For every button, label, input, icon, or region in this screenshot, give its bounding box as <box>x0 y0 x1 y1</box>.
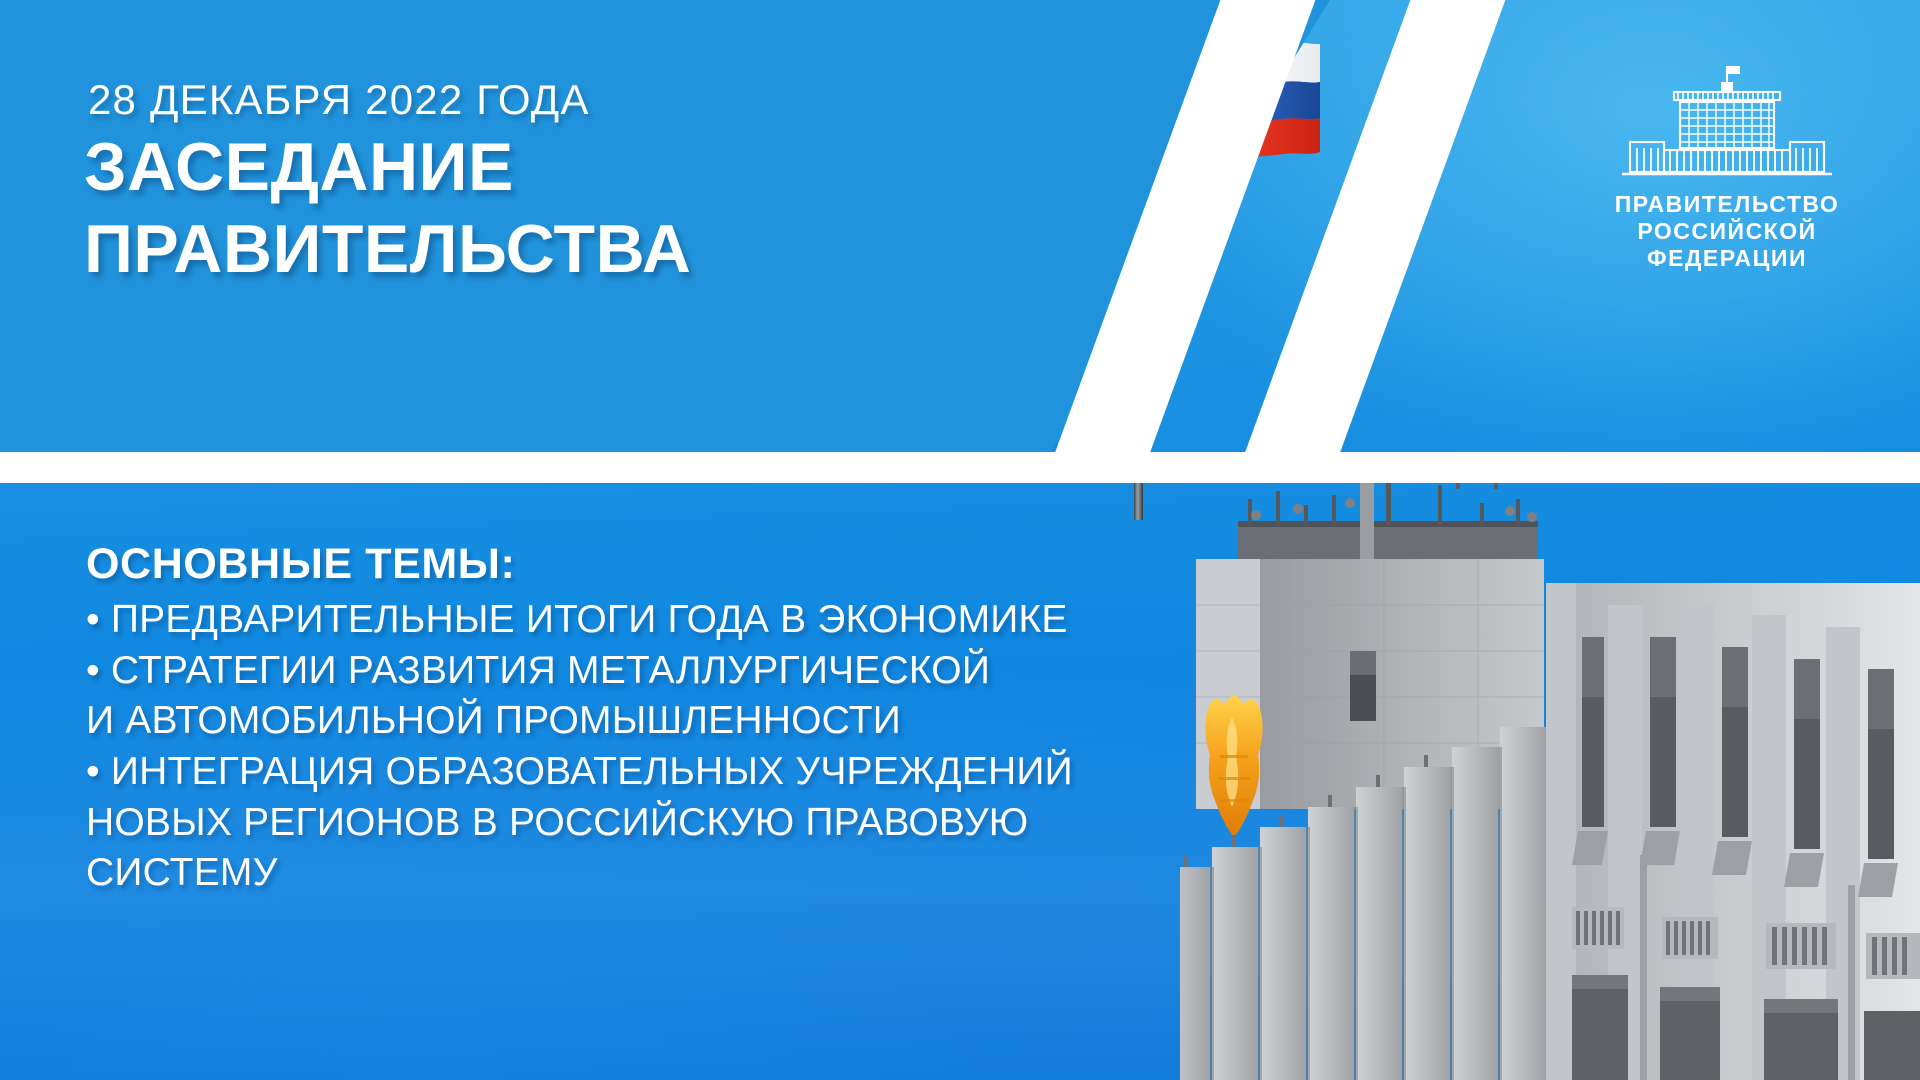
title-line-2: ПРАВИТЕЛЬСТВА <box>84 215 691 283</box>
event-date: 28 ДЕКАБРЯ 2022 ГОДА <box>88 76 590 124</box>
topic-line: • ИНТЕГРАЦИЯ ОБРАЗОВАТЕЛЬНЫХ УЧРЕЖДЕНИЙ <box>86 747 1186 798</box>
logo-line-1: ПРАВИТЕЛЬСТВО <box>1577 191 1877 218</box>
government-logo: ПРАВИТЕЛЬСТВО РОССИЙСКОЙ ФЕДЕРАЦИИ <box>1577 62 1877 272</box>
topic-line: • СТРАТЕГИИ РАЗВИТИЯ МЕТАЛЛУРГИЧЕСКОЙ <box>86 646 1186 697</box>
topic-line: И АВТОМОБИЛЬНОЙ ПРОМЫШЛЕННОСТИ <box>86 696 1186 747</box>
main-topics-block: ОСНОВНЫЕ ТЕМЫ: • ПРЕДВАРИТЕЛЬНЫЕ ИТОГИ Г… <box>86 540 1186 899</box>
government-house-icon <box>1612 62 1842 182</box>
golden-coat-of-arms-icon <box>1205 696 1262 837</box>
main-topics-heading: ОСНОВНЫЕ ТЕМЫ: <box>86 540 1186 589</box>
logo-caption: ПРАВИТЕЛЬСТВО РОССИЙСКОЙ ФЕДЕРАЦИИ <box>1577 191 1877 272</box>
page-title: ЗАСЕДАНИЕ ПРАВИТЕЛЬСТВА <box>84 133 691 283</box>
topic-line: НОВЫХ РЕГИОНОВ В РОССИЙСКУЮ ПРАВОВУЮ <box>86 798 1186 849</box>
topic-line: • ПРЕДВАРИТЕЛЬНЫЕ ИТОГИ ГОДА В ЭКОНОМИКЕ <box>86 595 1186 646</box>
logo-line-2: РОССИЙСКОЙ <box>1577 218 1877 245</box>
title-line-1: ЗАСЕДАНИЕ <box>84 129 514 205</box>
poster-root: 28 ДЕКАБРЯ 2022 ГОДА ЗАСЕДАНИЕ ПРАВИТЕЛЬ… <box>0 0 1920 1080</box>
topic-line: СИСТЕМУ <box>86 848 1186 899</box>
government-building-photo <box>1180 455 1920 1080</box>
logo-line-3: ФЕДЕРАЦИИ <box>1577 245 1877 272</box>
